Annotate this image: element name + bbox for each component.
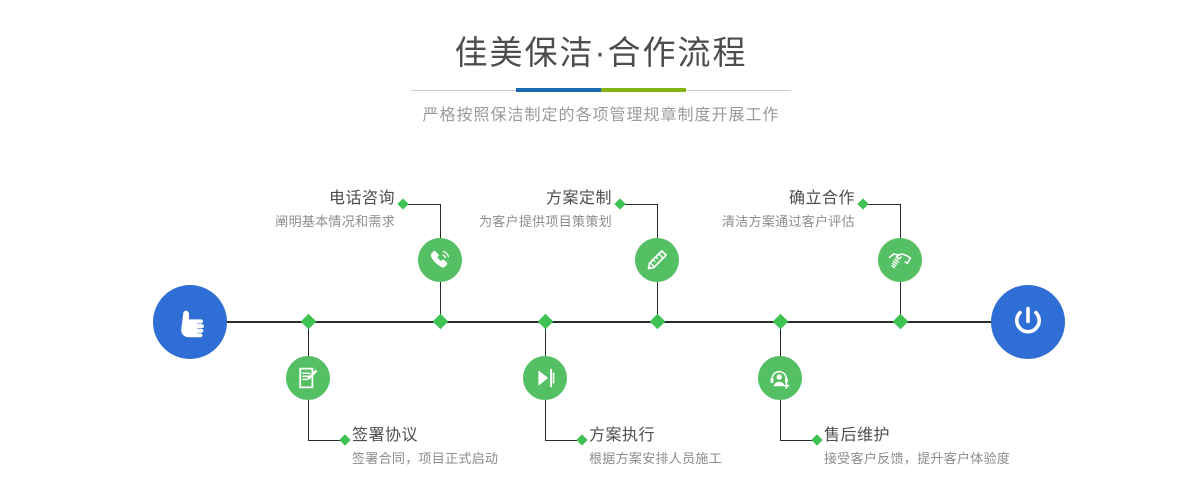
step-title-2: 签署协议 <box>352 425 612 447</box>
step-desc-5: 清洁方案通过客户评估 <box>615 212 855 232</box>
timeline-marker <box>650 314 666 330</box>
step-label-1: 电话咨询 阐明基本情况和需求 <box>155 188 395 232</box>
timeline-axis <box>160 321 1045 323</box>
step-title-1: 电话咨询 <box>155 188 395 210</box>
step-title-6: 售后维护 <box>824 425 1124 447</box>
infographic-canvas: 佳美保洁·合作流程 严格按照保洁制定的各项管理规章制度开展工作 <box>0 0 1202 502</box>
step-icon-3[interactable] <box>635 238 679 282</box>
step-desc-6: 接受客户反馈，提升客户体验度 <box>824 449 1124 469</box>
step-title-5: 确立合作 <box>615 188 855 210</box>
step-icon-1[interactable] <box>418 238 462 282</box>
power-icon <box>1007 301 1049 343</box>
timeline-marker <box>433 314 449 330</box>
step-label-3: 方案定制 为客户提供项目策策划 <box>372 188 612 232</box>
step-desc-4: 根据方案安排人员施工 <box>589 449 849 469</box>
play-execute-icon <box>532 365 558 391</box>
hand-pointing-right-icon <box>170 302 210 342</box>
label-leader-vertical <box>308 400 309 440</box>
label-marker <box>339 434 350 445</box>
flow-end-node[interactable] <box>991 285 1065 359</box>
step-icon-4[interactable] <box>523 356 567 400</box>
step-desc-2: 签署合同，项目正式启动 <box>352 449 612 469</box>
timeline-marker <box>773 314 789 330</box>
timeline-marker <box>301 314 317 330</box>
label-leader-horizontal <box>865 204 901 205</box>
label-marker <box>857 198 868 209</box>
timeline-marker <box>893 314 909 330</box>
handshake-icon <box>887 247 913 273</box>
label-leader-vertical <box>900 204 901 240</box>
step-label-4: 方案执行 根据方案安排人员施工 <box>589 425 849 469</box>
step-title-3: 方案定制 <box>372 188 612 210</box>
step-label-2: 签署协议 签署合同，项目正式启动 <box>352 425 612 469</box>
customer-service-add-icon <box>767 365 793 391</box>
step-desc-3: 为客户提供项目策策划 <box>372 212 612 232</box>
pencil-ruler-icon <box>644 247 670 273</box>
timeline-marker <box>538 314 554 330</box>
flow-start-node[interactable] <box>153 285 227 359</box>
step-icon-5[interactable] <box>878 238 922 282</box>
document-edit-icon <box>295 365 321 391</box>
step-title-4: 方案执行 <box>589 425 849 447</box>
step-label-6: 售后维护 接受客户反馈，提升客户体验度 <box>824 425 1124 469</box>
step-desc-1: 阐明基本情况和需求 <box>155 212 395 232</box>
phone-call-icon <box>427 247 453 273</box>
process-flow-diagram: 电话咨询 阐明基本情况和需求 签署协议 签署合同，项目正式启动 <box>0 0 1202 502</box>
step-icon-6[interactable] <box>758 356 802 400</box>
step-icon-2[interactable] <box>286 356 330 400</box>
step-label-5: 确立合作 清洁方案通过客户评估 <box>615 188 855 232</box>
